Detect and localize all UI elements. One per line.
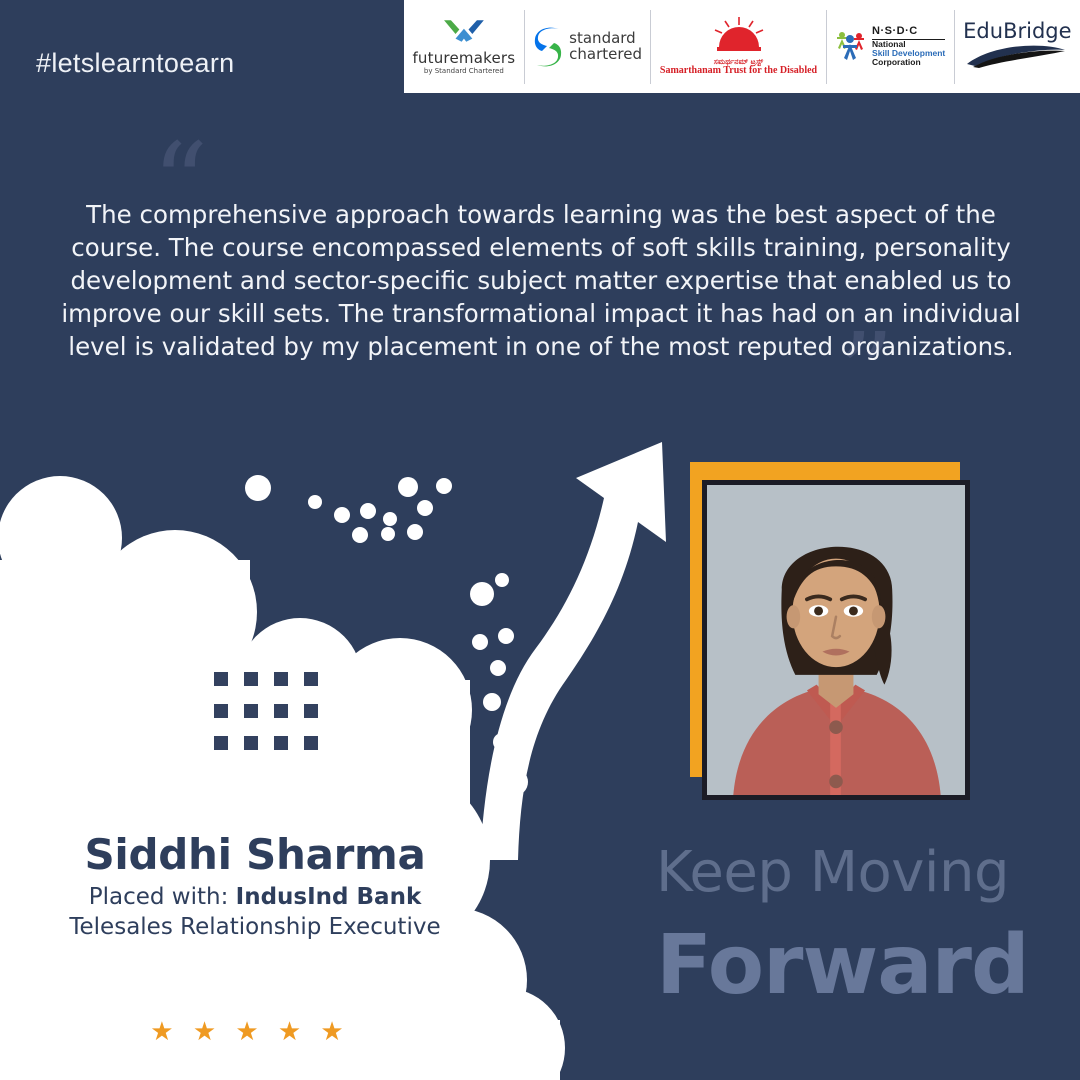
person-role: Telesales Relationship Executive	[0, 914, 510, 940]
portrait-photo	[702, 480, 970, 800]
standard-chartered-s-icon	[533, 25, 563, 69]
logo-nsdc: N·S·D·C National Skill Development Corpo…	[827, 10, 955, 84]
logo-nsdc-abbr: N·S·D·C	[872, 26, 945, 40]
person-name: Siddhi Sharma	[0, 830, 510, 879]
futuremakers-x-icon	[441, 18, 487, 44]
edubridge-swoosh-icon	[965, 42, 1069, 68]
growth-arrow-icon	[380, 430, 670, 860]
logo-edubridge: EduBridge	[955, 10, 1080, 84]
rating-stars: ★ ★ ★ ★ ★	[0, 1016, 500, 1047]
partner-logo-bar: futuremakers by Standard Chartered stand…	[404, 0, 1080, 93]
logo-standard-chartered: standard chartered	[525, 10, 652, 84]
logo-samarthanam-name: Samarthanam Trust for the Disabled	[660, 66, 817, 77]
slogan-line-2: Forward	[656, 925, 1029, 1007]
logo-futuremakers-name: futuremakers	[412, 51, 515, 66]
logo-samarthanam: ಸಮರ್ಥನಮ್ ಟ್ರಸ್ಟ್ Samarthanam Trust for t…	[651, 10, 826, 84]
person-placed-with: Placed with: IndusInd Bank	[0, 884, 510, 910]
logo-futuremakers-tagline: by Standard Chartered	[412, 68, 515, 75]
company-name: IndusInd Bank	[236, 884, 422, 910]
testimonial-text: The comprehensive approach towards learn…	[54, 198, 1028, 363]
hashtag-label: #letslearntoearn	[36, 48, 234, 79]
testimonial-poster: #letslearntoearn futuremakers by Standar…	[0, 0, 1080, 1080]
logo-futuremakers: futuremakers by Standard Chartered	[404, 10, 525, 84]
logo-standard-chartered-line2: chartered	[569, 47, 642, 62]
square-grid-decor	[214, 672, 318, 750]
logo-nsdc-line3: Corporation	[872, 58, 945, 67]
nsdc-people-icon	[835, 26, 867, 66]
logo-edubridge-name: EduBridge	[963, 21, 1071, 42]
slogan-line-1: Keep Moving	[656, 845, 1009, 901]
placed-label: Placed with:	[89, 884, 229, 910]
rising-sun-icon	[707, 17, 771, 53]
